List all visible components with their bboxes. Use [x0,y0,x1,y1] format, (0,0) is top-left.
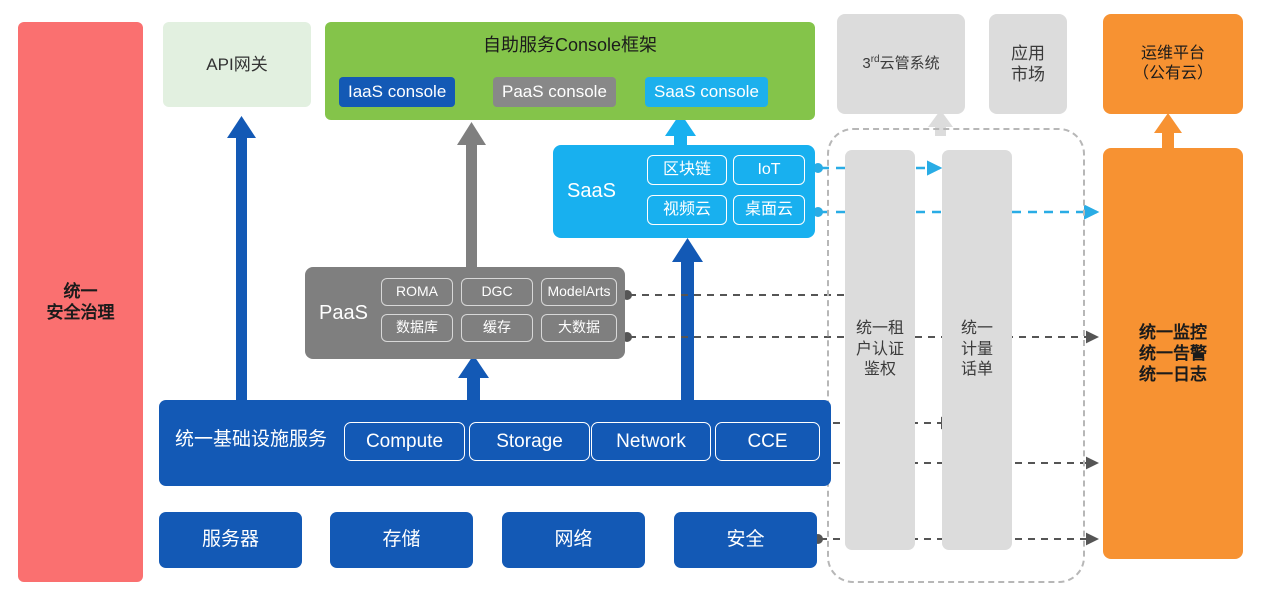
iaas-chip-compute[interactable]: Compute [344,422,465,461]
saas-console-chip[interactable]: SaaS console [645,77,768,107]
saas-chip-desktop-cloud[interactable]: 桌面云 [733,195,805,225]
unified-tenant-auth-column[interactable]: 统一租 户认证 鉴权 [845,150,915,550]
paas-chip-dgc-label: DGC [481,283,512,301]
arrow-paas-to-console [457,122,486,268]
paas-console-chip[interactable]: PaaS console [493,77,616,107]
paas-chip-dgc[interactable]: DGC [461,278,533,306]
iaas-chip-storage-label: Storage [496,430,563,454]
saas-chip-iot-label: IoT [757,160,780,180]
paas-console-label: PaaS console [502,81,607,102]
iaas-console-chip[interactable]: IaaS console [339,77,455,107]
ops-platform-header-label: 运维平台 （公有云） [1133,44,1213,84]
unified-metering-billing-column[interactable]: 统一 计量 话单 [942,150,1012,550]
arrow-iaas-to-api-gateway [227,116,256,404]
paas-chip-roma[interactable]: ROMA [381,278,453,306]
third-party-rest: 云管系统 [880,55,940,72]
saas-chip-iot[interactable]: IoT [733,155,805,185]
hardware-box-security[interactable]: 安全 [674,512,817,568]
arrow-iaas-to-paas [458,355,489,404]
saas-chip-desktop-cloud-label: 桌面云 [745,200,793,220]
app-market-label: 应用 市场 [1011,43,1045,86]
arrow-iaas-to-saas [672,238,703,403]
saas-chip-blockchain-label: 区块链 [663,160,711,180]
app-market-box[interactable]: 应用 市场 [989,14,1067,114]
saas-layer-box[interactable]: SaaS 区块链 IoT 视频云 桌面云 [553,145,815,238]
unified-metering-billing-label: 统一 计量 话单 [961,319,993,381]
paas-layer-box[interactable]: PaaS ROMA DGC ModelArts 数据库 缓存 大数据 [305,267,625,359]
paas-chip-database-label: 数据库 [396,319,438,337]
unified-tenant-auth-label: 统一租 户认证 鉴权 [856,319,904,381]
api-gateway-label: API网关 [206,54,267,75]
paas-layer-label: PaaS [319,301,368,326]
hardware-box-network[interactable]: 网络 [502,512,645,568]
arrow-to-ops-platform [1154,113,1182,148]
paas-chip-bigdata-label: 大数据 [558,319,600,337]
unified-security-governance-label: 统一 安全治理 [47,281,115,324]
paas-chip-cache[interactable]: 缓存 [461,314,533,342]
paas-chip-cache-label: 缓存 [483,319,511,337]
hardware-box-network-label: 网络 [554,528,592,552]
paas-chip-modelarts[interactable]: ModelArts [541,278,617,306]
self-service-console-framework[interactable]: 自助服务Console框架 IaaS console PaaS console … [325,22,815,120]
architecture-diagram: 统一 安全治理 API网关 自助服务Console框架 IaaS console… [0,0,1265,605]
iaas-chip-cce-label: CCE [747,430,787,454]
third-party-superscript: rd [871,54,880,65]
saas-chip-video-cloud[interactable]: 视频云 [647,195,727,225]
ops-platform-body-label: 统一监控 统一告警 统一日志 [1139,322,1207,386]
hardware-box-server-label: 服务器 [202,528,259,552]
third-party-cloud-label: 3rd云管系统 [862,54,939,74]
hardware-box-storage-label: 存储 [382,528,420,552]
iaas-chip-network-label: Network [616,430,686,454]
saas-chip-blockchain[interactable]: 区块链 [647,155,727,185]
console-framework-title: 自助服务Console框架 [325,34,815,57]
third-party-prefix: 3 [862,55,870,72]
iaas-chip-network[interactable]: Network [591,422,711,461]
saas-chip-video-cloud-label: 视频云 [663,200,711,220]
iaas-chip-compute-label: Compute [366,430,443,454]
unified-security-governance-panel[interactable]: 统一 安全治理 [18,22,143,582]
paas-chip-database[interactable]: 数据库 [381,314,453,342]
api-gateway-box[interactable]: API网关 [163,22,311,107]
paas-chip-bigdata[interactable]: 大数据 [541,314,617,342]
hardware-box-storage[interactable]: 存储 [330,512,473,568]
third-party-cloud-management-box[interactable]: 3rd云管系统 [837,14,965,114]
paas-chip-roma-label: ROMA [396,283,438,301]
unified-infrastructure-service-label: 统一基础设施服务 [175,428,327,452]
saas-console-label: SaaS console [654,81,759,102]
saas-layer-label: SaaS [567,179,616,204]
ops-platform-body-box[interactable]: 统一监控 统一告警 统一日志 [1103,148,1243,559]
hardware-box-server[interactable]: 服务器 [159,512,302,568]
iaas-console-label: IaaS console [348,81,446,102]
unified-infrastructure-service-bar[interactable]: 统一基础设施服务 Compute Storage Network CCE [159,400,831,486]
iaas-chip-storage[interactable]: Storage [469,422,590,461]
hardware-box-security-label: 安全 [726,528,764,552]
paas-chip-modelarts-label: ModelArts [547,283,610,301]
ops-platform-header-box[interactable]: 运维平台 （公有云） [1103,14,1243,114]
iaas-chip-cce[interactable]: CCE [715,422,820,461]
